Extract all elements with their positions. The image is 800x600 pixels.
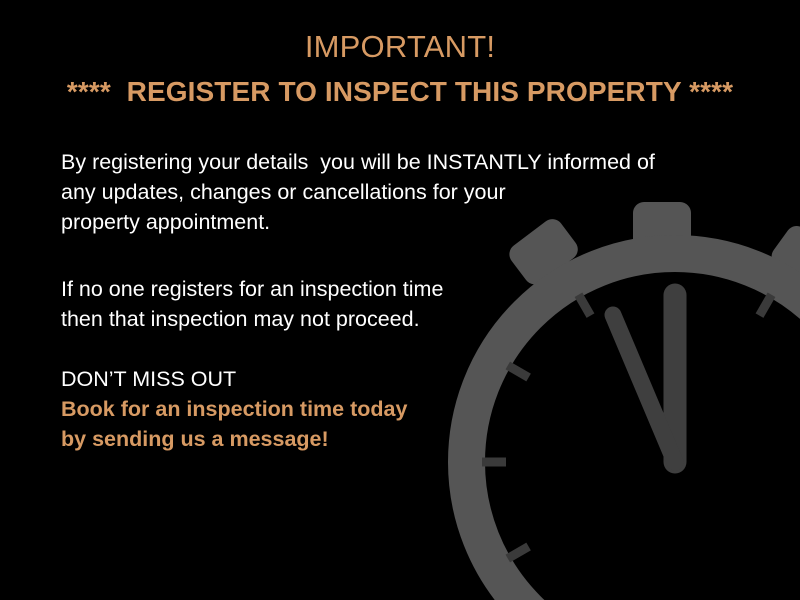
page-title: IMPORTANT! (0, 30, 800, 64)
body-paragraph-no-registration: If no one registers for an inspection ti… (61, 274, 443, 334)
promotional-slide: IMPORTANT! **** REGISTER TO INSPECT THIS… (0, 0, 800, 600)
cta-send-message: by sending us a message! (61, 424, 407, 454)
text-layer: IMPORTANT! **** REGISTER TO INSPECT THIS… (0, 0, 800, 600)
page-subtitle: **** REGISTER TO INSPECT THIS PROPERTY *… (0, 77, 800, 108)
call-to-action-block: DON’T MISS OUT Book for an inspection ti… (61, 364, 407, 454)
body-paragraph-registering: By registering your details you will be … (61, 147, 655, 237)
cta-dont-miss-out: DON’T MISS OUT (61, 364, 407, 394)
cta-book-inspection: Book for an inspection time today (61, 394, 407, 424)
